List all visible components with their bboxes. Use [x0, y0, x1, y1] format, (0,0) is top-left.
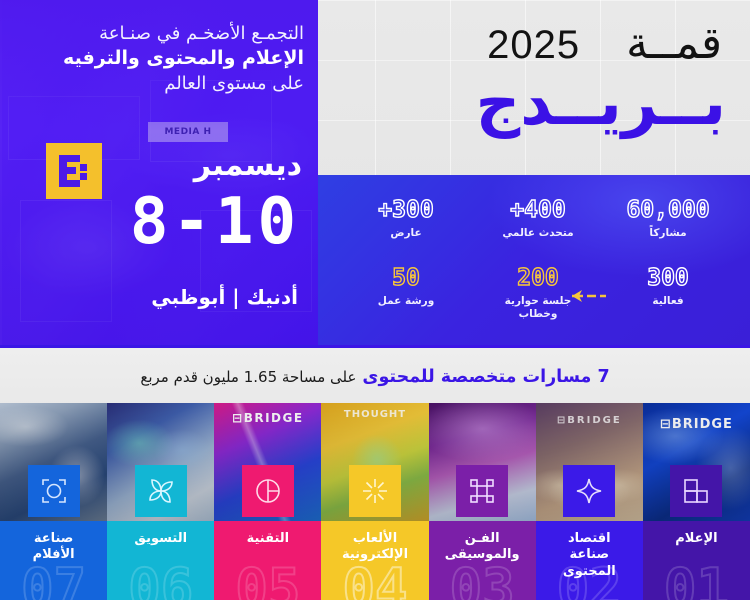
- stat-value: 400+: [478, 199, 598, 222]
- title-year: 2025: [487, 23, 580, 68]
- stat-label: متحدث عالمي: [478, 227, 598, 240]
- starburst-icon: [349, 465, 401, 517]
- stat-value: 50: [346, 267, 466, 290]
- track-card[interactable]: THOUGHT 04 الألعاب الإلكترونية: [321, 403, 428, 600]
- banner-normal-text: على مساحة 1.65 مليون قدم مربع: [140, 368, 356, 386]
- hero-headline-line-2: الإعلام والمحتوى والترفيه: [14, 46, 304, 72]
- stat-item: 300+ عارض: [346, 199, 466, 240]
- stat-value: 300: [608, 267, 728, 290]
- stat-value: 300+: [346, 199, 466, 222]
- command-icon: [456, 465, 508, 517]
- title-brand: بــريــدج: [476, 72, 726, 134]
- track-card[interactable]: 03 الفـن والموسيقى: [429, 403, 536, 600]
- banner-bold-text: 7 مسارات متخصصة للمحتوى: [362, 367, 609, 387]
- stat-label: عارض: [346, 227, 466, 240]
- stat-item: 400+ متحدث عالمي: [478, 199, 598, 240]
- card-number: 03: [450, 562, 515, 600]
- card-number: 06: [128, 562, 193, 600]
- blocks-icon: [670, 465, 722, 517]
- tracks-banner: 7 مسارات متخصصة للمحتوى على مساحة 1.65 م…: [0, 345, 750, 406]
- stat-label: مشاركاً: [608, 227, 728, 240]
- track-cards: ⊟BRIDGE 01 الإعلام ⊟BRIDGE: [0, 403, 750, 600]
- hero-panel: MEDIA H التجمـع الأضخـم في صنـاعة الإعلا…: [0, 0, 318, 345]
- bridge-logo-mark-icon: [59, 155, 89, 187]
- card-number: 01: [664, 562, 729, 600]
- title-block: قمــة 2025 بــريــدج: [318, 0, 750, 175]
- card-label: الفـن والموسيقى: [429, 531, 536, 564]
- stat-label: فعالية: [608, 295, 728, 308]
- card-number: 05: [235, 562, 300, 600]
- stat-label: ورشة عمل: [346, 295, 466, 308]
- card-label: الإعلام: [643, 531, 750, 547]
- hero-headline-line-1: التجمـع الأضخـم في صنـاعة: [14, 22, 304, 46]
- stat-item: 50 ورشة عمل: [346, 267, 466, 308]
- hero-headline: التجمـع الأضخـم في صنـاعة الإعلام والمحت…: [14, 22, 304, 96]
- stat-item: 60,000 مشاركاً: [608, 199, 728, 240]
- stats-panel: 60,000 مشاركاً 400+ متحدث عالمي 300+ عار…: [318, 175, 750, 345]
- card-label: الألعاب الإلكترونية: [321, 531, 428, 564]
- card-footer: 02 اقتصاد صناعة المحتوى: [536, 521, 643, 600]
- track-card[interactable]: ⊟BRIDGE 01 الإعلام: [643, 403, 750, 600]
- left-arrow-icon: [560, 287, 616, 305]
- track-card[interactable]: 06 التسويق: [107, 403, 214, 600]
- pinwheel-icon: [135, 465, 187, 517]
- event-venue: أدنيك | أبوظبي: [151, 285, 298, 309]
- title-row-top: قمــة 2025: [487, 18, 722, 69]
- card-footer: 05 التقنية: [214, 521, 321, 600]
- pie-circle-icon: [242, 465, 294, 517]
- card-footer: 06 التسويق: [107, 521, 214, 600]
- card-label: التقنية: [214, 531, 321, 547]
- card-footer: 03 الفـن والموسيقى: [429, 521, 536, 600]
- track-card[interactable]: ⊟BRIDGE 05 التقنية: [214, 403, 321, 600]
- camera-frame-icon: [28, 465, 80, 517]
- stat-value: 60,000: [608, 199, 728, 222]
- top-section: MEDIA H التجمـع الأضخـم في صنـاعة الإعلا…: [0, 0, 750, 345]
- card-number: 07: [21, 562, 86, 600]
- card-number: 04: [342, 562, 407, 600]
- title-summit-word: قمــة: [626, 18, 722, 69]
- event-month: ديسمبر: [194, 148, 302, 183]
- card-label: اقتصاد صناعة المحتوى: [536, 531, 643, 580]
- event-dates: 8-10: [130, 190, 300, 254]
- poster-root: MEDIA H التجمـع الأضخـم في صنـاعة الإعلا…: [0, 0, 750, 600]
- stat-item: 300 فعالية: [608, 267, 728, 308]
- track-card[interactable]: ⊟BRIDGE 02 اقتصاد صناعة المحتوى: [536, 403, 643, 600]
- sparkle-icon: [563, 465, 615, 517]
- card-label: التسويق: [107, 531, 214, 547]
- hero-headline-line-3: على مستوى العالم: [14, 72, 304, 96]
- card-footer: 07 صناعة الأفلام: [0, 521, 107, 600]
- track-card[interactable]: 07 صناعة الأفلام: [0, 403, 107, 600]
- bridge-logo-badge: [46, 143, 102, 199]
- card-footer: 04 الألعاب الإلكترونية: [321, 521, 428, 600]
- card-label: صناعة الأفلام: [0, 531, 107, 564]
- card-footer: 01 الإعلام: [643, 521, 750, 600]
